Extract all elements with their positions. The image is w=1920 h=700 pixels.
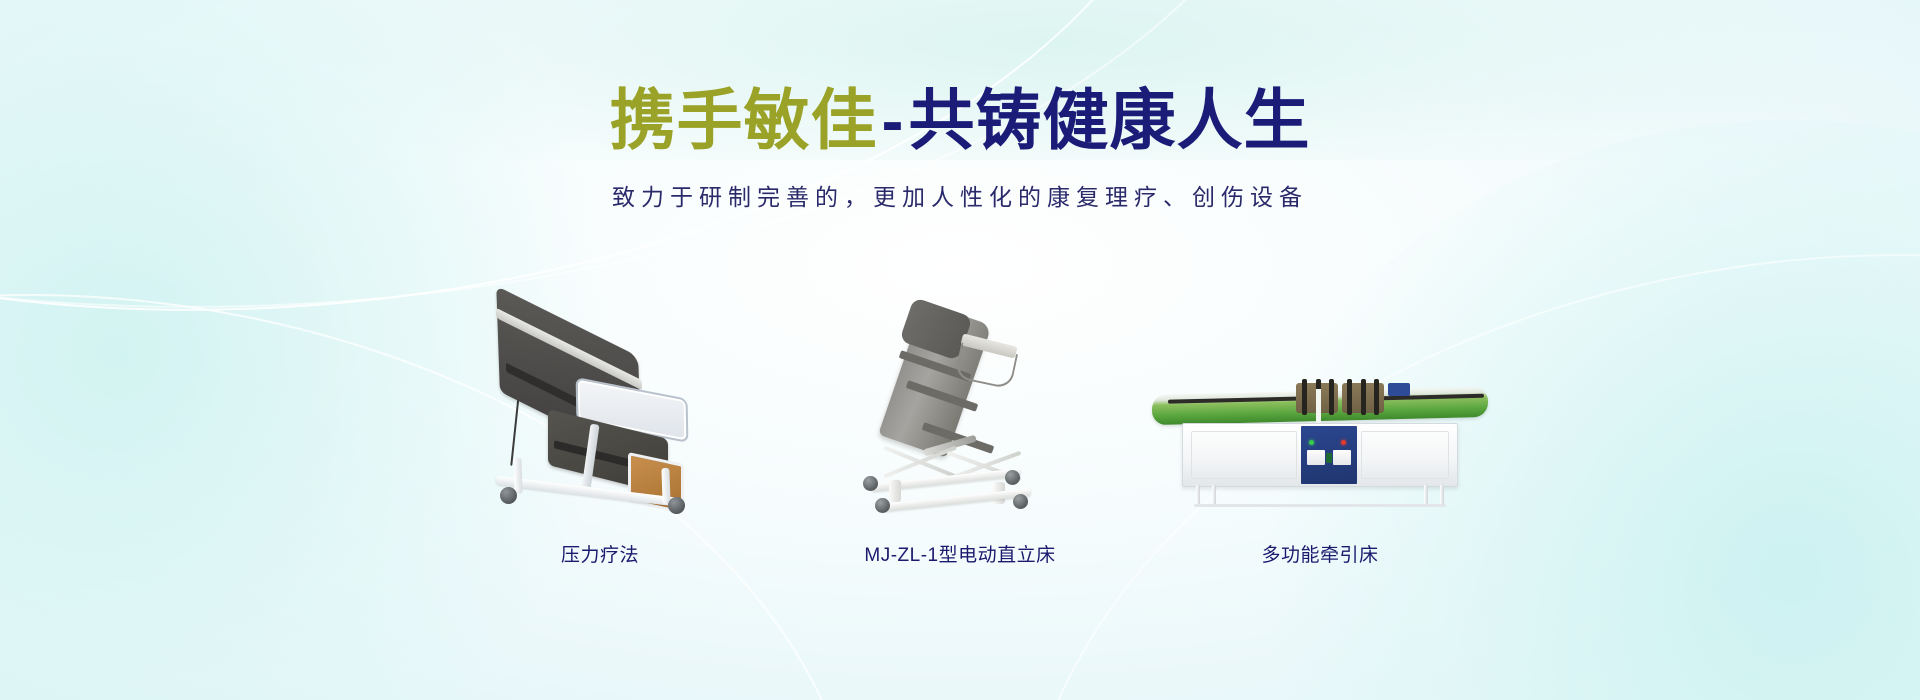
- tilt-base-rail-front: [881, 488, 1031, 512]
- traction-mattress-split: [1316, 389, 1321, 423]
- tilt-caster-2: [1005, 470, 1020, 485]
- harness-strap: [1302, 379, 1307, 415]
- tilt-caster-1: [863, 476, 878, 491]
- headline-navy-text: 共铸健康人生: [908, 83, 1310, 157]
- product-showcase: 压力疗法: [430, 300, 1490, 567]
- harness-strap: [1361, 379, 1366, 415]
- power-led-green: [1309, 440, 1314, 445]
- traction-foot-rail: [1194, 504, 1446, 507]
- hero-banner: 携手敏佳-共铸健康人生 致力于研制完善的，更加人性化的康复理疗、创伤设备: [0, 0, 1920, 700]
- product-item-pressure-therapy[interactable]: 压力疗法: [430, 300, 770, 567]
- traction-harness-right: [1342, 383, 1384, 413]
- couch-caster-right: [668, 497, 685, 514]
- tilt-base-cross-left: [889, 480, 901, 502]
- headline-dash: -: [878, 83, 909, 157]
- product-caption: MJ-ZL-1型电动直立床: [864, 540, 1055, 567]
- cabinet-door-left: [1191, 431, 1297, 479]
- headline-green-text: 携手敏佳: [610, 83, 878, 157]
- cabinet-door-right: [1361, 431, 1449, 479]
- control-meter-left: [1307, 450, 1325, 465]
- harness-strap: [1347, 379, 1352, 415]
- traction-control-panel[interactable]: [1301, 426, 1357, 484]
- product-caption: 压力疗法: [561, 540, 639, 567]
- product-image-reclining-couch: [430, 300, 770, 510]
- traction-base-cabinet: [1182, 423, 1458, 487]
- traction-blue-accessory: [1388, 383, 1410, 396]
- product-caption: 多功能牵引床: [1261, 540, 1378, 567]
- couch-caster-left: [500, 487, 517, 504]
- product-image-traction-bed: [1150, 300, 1490, 510]
- product-item-electric-standing-bed[interactable]: MJ-ZL-1型电动直立床: [790, 300, 1130, 567]
- power-led-red: [1341, 440, 1346, 445]
- harness-strap: [1374, 379, 1379, 415]
- product-item-traction-bed[interactable]: 多功能牵引床: [1150, 300, 1490, 567]
- harness-strap: [1329, 379, 1334, 415]
- couch-leg-right: [661, 468, 670, 504]
- tilt-caster-3: [875, 498, 890, 513]
- page-subtitle: 致力于研制完善的，更加人性化的康复理疗、创伤设备: [0, 178, 1920, 212]
- tilt-caster-4: [1013, 494, 1028, 509]
- control-digital-display: [1326, 453, 1332, 463]
- page-title: 携手敏佳-共铸健康人生: [0, 86, 1920, 156]
- couch-leg-left: [513, 458, 522, 494]
- product-image-tilt-table: [790, 300, 1130, 510]
- control-meter-right: [1333, 450, 1351, 465]
- headline-block: 携手敏佳-共铸健康人生 致力于研制完善的，更加人性化的康复理疗、创伤设备: [0, 86, 1920, 212]
